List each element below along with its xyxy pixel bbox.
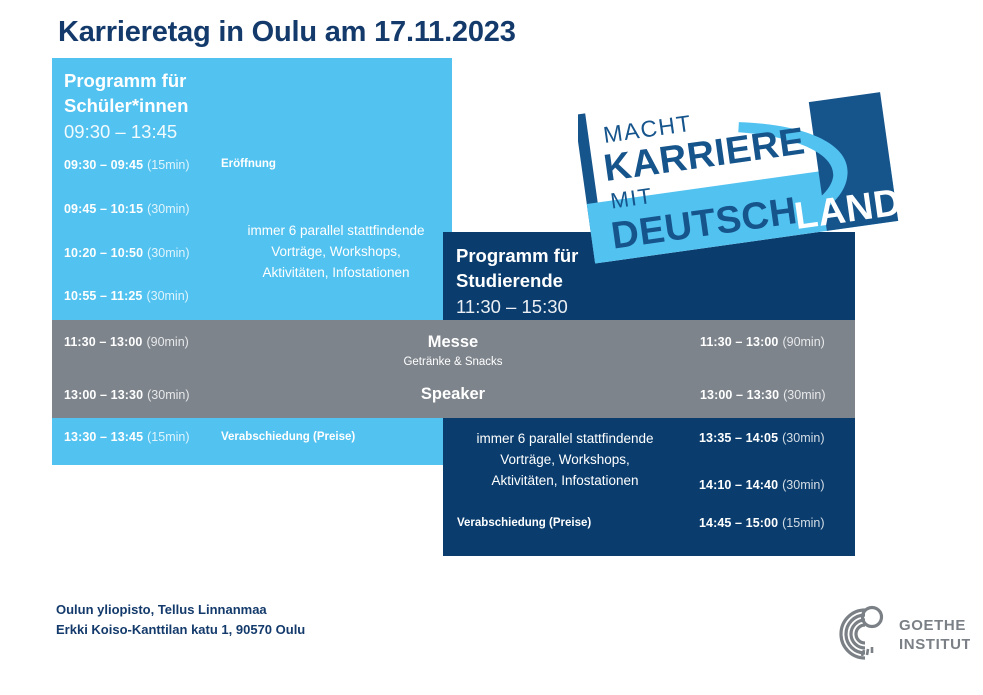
students-row-0-time: 09:30 – 09:45 bbox=[64, 158, 143, 172]
poster-canvas: Karrieretag in Oulu am 17.11.2023 MACHT bbox=[0, 0, 983, 695]
students-parallel-line3: Aktivitäten, Infostationen bbox=[228, 262, 444, 283]
goethe-institut-logo: GOETHE INSTITUT bbox=[815, 600, 970, 664]
students-row-2-time: 10:20 – 10:50 bbox=[64, 246, 143, 260]
speaker-right-time-value: 13:00 – 13:30 bbox=[700, 388, 779, 402]
graduates-row-time-0: 13:35 – 14:05(30min) bbox=[699, 431, 825, 445]
speaker-title: Speaker bbox=[253, 384, 653, 405]
graduates-parallel-sessions-block: immer 6 parallel stattfindende Vorträge,… bbox=[457, 428, 673, 491]
messe-right-time: 11:30 – 13:00(90min) bbox=[700, 335, 825, 349]
venue-address: Oulun yliopisto, Tellus Linnanmaa Erkki … bbox=[56, 600, 305, 640]
students-row-time-0: 09:30 – 09:45(15min) bbox=[64, 158, 190, 172]
goethe-logo-line2: INSTITUT bbox=[899, 636, 970, 653]
graduates-closing-row-time: 14:45 – 15:00(15min) bbox=[699, 516, 825, 530]
speaker-left-time-value: 13:00 – 13:30 bbox=[64, 388, 143, 402]
students-closing-time: 13:30 – 13:45 bbox=[64, 430, 143, 444]
students-row-1-duration: (30min) bbox=[147, 202, 189, 216]
students-parallel-line1: immer 6 parallel stattfindende bbox=[228, 220, 444, 241]
students-closing-row-time: 13:30 – 13:45(15min) bbox=[64, 430, 190, 444]
students-heading-line2: Schüler*innen bbox=[64, 93, 188, 118]
students-row-0-duration: (15min) bbox=[147, 158, 189, 172]
students-row-time-3: 10:55 – 11:25(30min) bbox=[64, 289, 189, 303]
students-heading-time: 09:30 – 13:45 bbox=[64, 118, 188, 145]
graduates-heading-line2: Studierende bbox=[456, 268, 578, 293]
messe-title: Messe bbox=[253, 332, 653, 353]
messe-left-time-value: 11:30 – 13:00 bbox=[64, 335, 142, 349]
graduates-row-1-time: 14:10 – 14:40 bbox=[699, 478, 778, 492]
address-line1: Oulun yliopisto, Tellus Linnanmaa bbox=[56, 600, 305, 620]
speaker-right-time: 13:00 – 13:30(30min) bbox=[700, 388, 826, 402]
students-row-3-duration: (30min) bbox=[146, 289, 188, 303]
graduates-heading-line1: Programm für bbox=[456, 243, 578, 268]
messe-left-time: 11:30 – 13:00(90min) bbox=[64, 335, 189, 349]
students-closing-label: Verabschiedung (Preise) bbox=[221, 431, 355, 443]
students-parallel-sessions-block: immer 6 parallel stattfindende Vorträge,… bbox=[228, 220, 444, 283]
macht-karriere-mit-deutschland-logo: MACHT KARRIERE MIT DEUTSCH LAND bbox=[578, 78, 908, 268]
graduates-row-0-time: 13:35 – 14:05 bbox=[699, 431, 778, 445]
graduates-parallel-line2: Vorträge, Workshops, bbox=[457, 449, 673, 470]
graduates-heading-time: 11:30 – 15:30 bbox=[456, 293, 578, 320]
speaker-right-duration: (30min) bbox=[783, 388, 825, 402]
messe-subtitle: Getränke & Snacks bbox=[253, 353, 653, 371]
students-row-3-time: 10:55 – 11:25 bbox=[64, 289, 142, 303]
speaker-center-block: Speaker bbox=[253, 384, 653, 405]
messe-right-duration: (90min) bbox=[782, 335, 824, 349]
page-title: Karrieretag in Oulu am 17.11.2023 bbox=[58, 16, 516, 49]
graduates-closing-time: 14:45 – 15:00 bbox=[699, 516, 778, 530]
graduates-closing-duration: (15min) bbox=[782, 516, 824, 530]
students-row-time-2: 10:20 – 10:50(30min) bbox=[64, 246, 190, 260]
graduates-panel-heading: Programm für Studierende 11:30 – 15:30 bbox=[456, 243, 578, 320]
graduates-closing-label: Verabschiedung (Preise) bbox=[457, 517, 591, 529]
address-line2: Erkki Koiso-Kanttilan katu 1, 90570 Oulu bbox=[56, 620, 305, 640]
graduates-row-0-duration: (30min) bbox=[782, 431, 824, 445]
speaker-left-duration: (30min) bbox=[147, 388, 189, 402]
goethe-mark-icon bbox=[841, 608, 882, 659]
students-parallel-line2: Vorträge, Workshops, bbox=[228, 241, 444, 262]
graduates-row-1-duration: (30min) bbox=[782, 478, 824, 492]
messe-left-duration: (90min) bbox=[146, 335, 188, 349]
speaker-left-time: 13:00 – 13:30(30min) bbox=[64, 388, 190, 402]
students-panel-heading: Programm für Schüler*innen 09:30 – 13:45 bbox=[64, 68, 188, 145]
graduates-row-time-1: 14:10 – 14:40(30min) bbox=[699, 478, 825, 492]
students-row-0-label: Eröffnung bbox=[221, 158, 276, 170]
students-row-1-time: 09:45 – 10:15 bbox=[64, 202, 143, 216]
students-row-time-1: 09:45 – 10:15(30min) bbox=[64, 202, 190, 216]
messe-right-time-value: 11:30 – 13:00 bbox=[700, 335, 778, 349]
graduates-parallel-line3: Aktivitäten, Infostationen bbox=[457, 470, 673, 491]
students-closing-duration: (15min) bbox=[147, 430, 189, 444]
students-row-2-duration: (30min) bbox=[147, 246, 189, 260]
graduates-parallel-line1: immer 6 parallel stattfindende bbox=[457, 428, 673, 449]
students-heading-line1: Programm für bbox=[64, 68, 188, 93]
goethe-logo-line1: GOETHE bbox=[899, 617, 966, 634]
messe-center-block: Messe Getränke & Snacks bbox=[253, 332, 653, 371]
